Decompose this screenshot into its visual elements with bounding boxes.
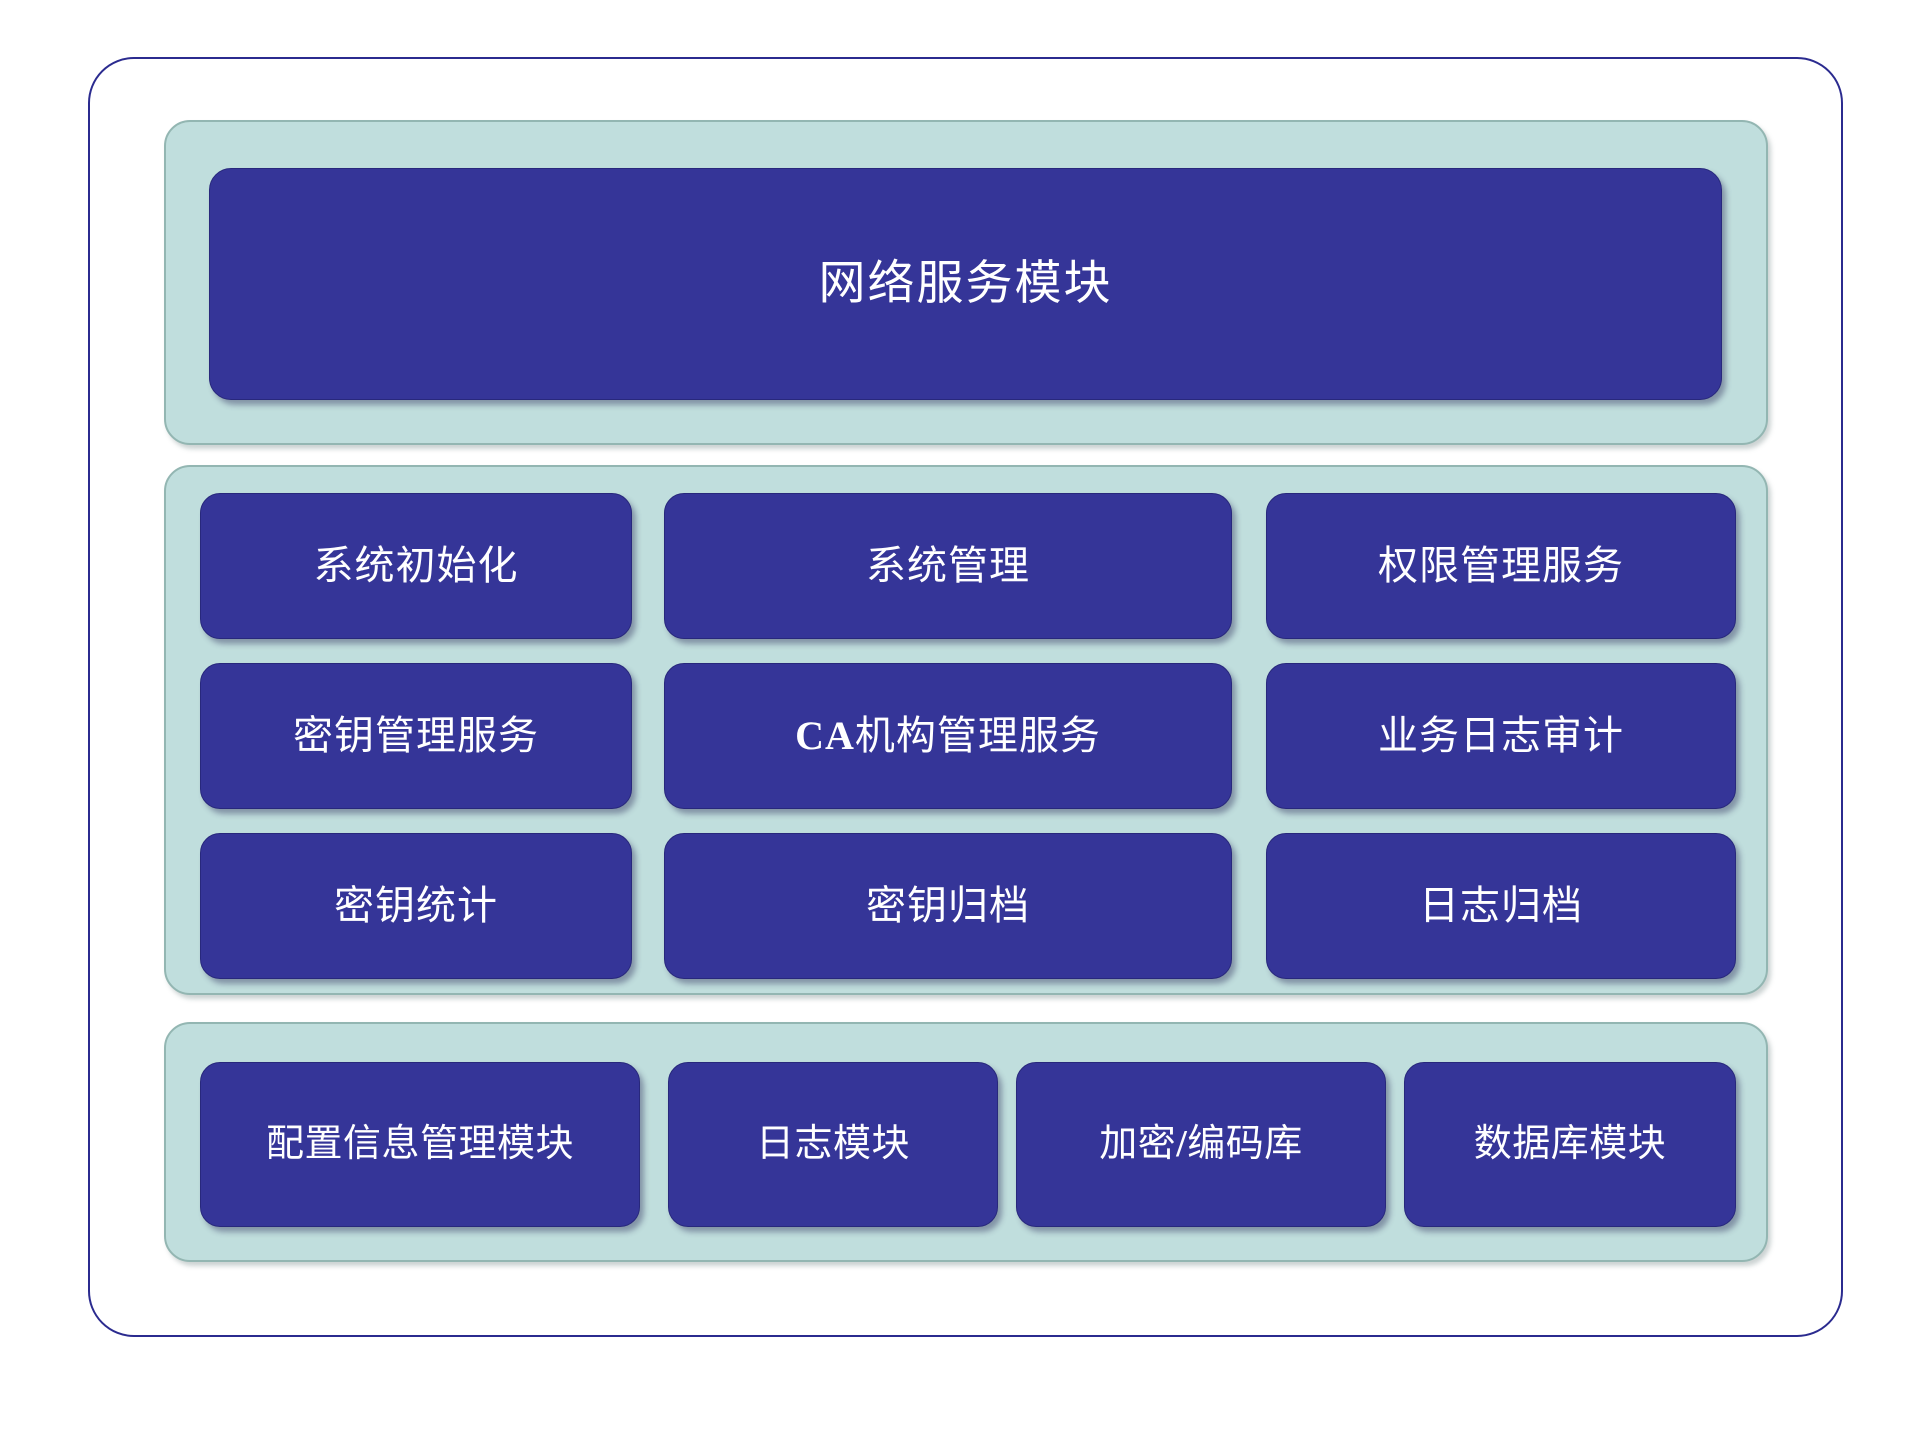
- module-config-info-management-label: 配置信息管理模块: [266, 1123, 574, 1167]
- module-key-statistics[interactable]: 密钥统计: [200, 833, 632, 979]
- module-system-management[interactable]: 系统管理: [664, 493, 1232, 639]
- module-privilege-management-service-label: 权限管理服务: [1378, 543, 1624, 589]
- module-log-archive[interactable]: 日志归档: [1266, 833, 1736, 979]
- module-key-statistics-label: 密钥统计: [334, 883, 498, 929]
- module-ca-management-service[interactable]: CA机构管理服务: [664, 663, 1232, 809]
- module-crypto-codec-library-label: 加密/编码库: [1099, 1123, 1303, 1167]
- module-network-service[interactable]: 网络服务模块: [209, 168, 1722, 400]
- module-database[interactable]: 数据库模块: [1404, 1062, 1736, 1227]
- module-business-log-audit-label: 业务日志审计: [1378, 713, 1624, 759]
- module-ca-management-service-label: CA机构管理服务: [795, 713, 1101, 759]
- module-log-label: 日志模块: [756, 1123, 910, 1167]
- module-key-management-service[interactable]: 密钥管理服务: [200, 663, 632, 809]
- diagram-canvas: 网络服务模块 系统初始化 系统管理 权限管理服务 密钥管理服务 CA机构管理服务…: [0, 0, 1920, 1440]
- module-network-service-label: 网络服务模块: [819, 257, 1113, 311]
- module-config-info-management[interactable]: 配置信息管理模块: [200, 1062, 640, 1227]
- module-system-management-label: 系统管理: [866, 543, 1030, 589]
- module-system-init[interactable]: 系统初始化: [200, 493, 632, 639]
- module-crypto-codec-library[interactable]: 加密/编码库: [1016, 1062, 1386, 1227]
- module-key-archive[interactable]: 密钥归档: [664, 833, 1232, 979]
- module-key-management-service-label: 密钥管理服务: [293, 713, 539, 759]
- module-log[interactable]: 日志模块: [668, 1062, 998, 1227]
- module-key-archive-label: 密钥归档: [866, 883, 1030, 929]
- module-crypto-slash: /: [1176, 1123, 1187, 1165]
- module-crypto-prefix: 加密: [1099, 1123, 1176, 1165]
- module-ca-management-service-rest: 机构管理服务: [855, 713, 1101, 758]
- module-system-init-label: 系统初始化: [314, 543, 519, 589]
- module-log-archive-label: 日志归档: [1419, 883, 1583, 929]
- module-ca-acronym: CA: [795, 713, 855, 758]
- module-database-label: 数据库模块: [1474, 1123, 1667, 1167]
- module-business-log-audit[interactable]: 业务日志审计: [1266, 663, 1736, 809]
- module-privilege-management-service[interactable]: 权限管理服务: [1266, 493, 1736, 639]
- module-crypto-suffix: 编码库: [1187, 1123, 1303, 1165]
